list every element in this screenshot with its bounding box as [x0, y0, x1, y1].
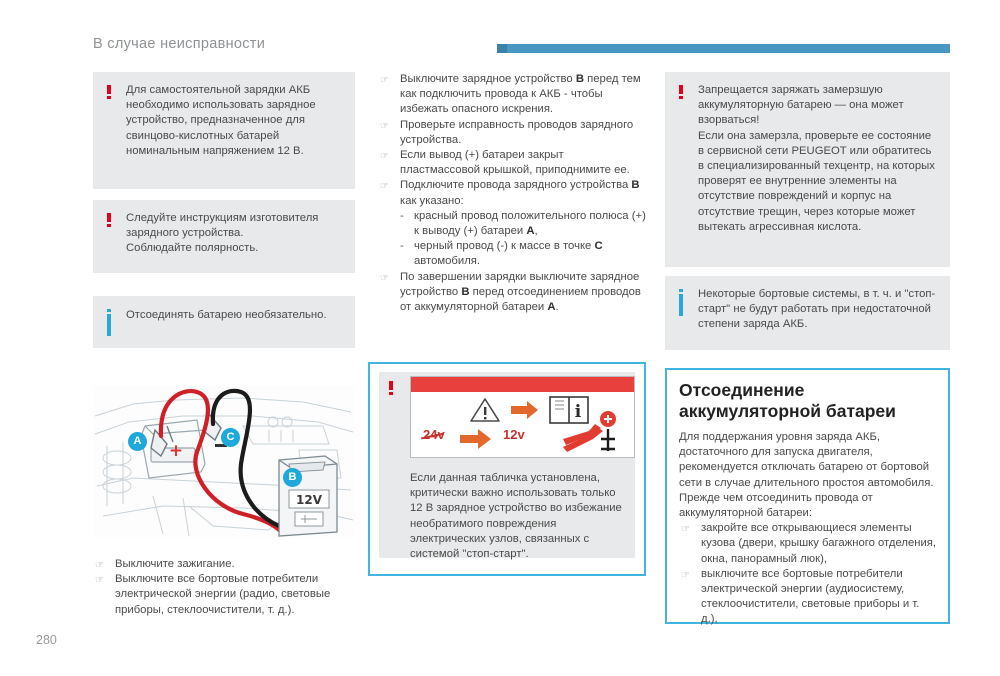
arrow-right-icon	[460, 429, 491, 449]
section-para-2: Прежде чем отсоединить провода от аккуму…	[679, 491, 938, 521]
exclamation-icon	[389, 381, 394, 395]
warning-text-polarity: Соблюдайте полярность.	[126, 241, 345, 256]
section-disconnect-battery: Отсоединение аккумуляторной батареи Для …	[665, 368, 950, 624]
list-item: ☞Проверьте исправность проводов зарядног…	[378, 118, 646, 148]
sub-list-item: -черный провод (-) к массе в точке C авт…	[378, 239, 646, 269]
list-item: ☞Подключите провода зарядного устройства…	[378, 178, 646, 208]
middle-bullet-list: ☞Выключите зарядное устройство B перед т…	[378, 72, 646, 315]
engine-bay-photo: + 12V A B C	[93, 386, 355, 538]
sticker-graphics: i	[411, 377, 634, 457]
sub-list-item: -красный провод положительного полюса (+…	[378, 209, 646, 239]
bullet-text: Выключите зарядное устройство B перед те…	[400, 73, 641, 115]
sticker-caption: Если данная табличка установлена, критич…	[410, 471, 628, 562]
voltage-new-label: 12v	[503, 427, 525, 442]
callout-tag-c: C	[221, 428, 240, 447]
warning-box-manufacturer-instructions: Следуйте инструкциям изготовителя зарядн…	[93, 200, 355, 273]
warning-text-frozen-2: Если она замерзла, проверьте ее состояни…	[698, 129, 940, 235]
hand-pointer-icon: ☞	[681, 522, 690, 537]
sticker-card: i 24v 12v Если данная табличка установле…	[368, 362, 646, 576]
list-item: ☞выключите все бортовые потребители элек…	[679, 567, 938, 628]
sub-bullet-text: черный провод (-) к массе в точке C авто…	[414, 240, 603, 267]
section-heading: Отсоединение аккумуляторной батареи	[679, 380, 938, 422]
info-icon	[679, 289, 688, 316]
sub-bullet-text: красный провод положительного полюса (+)…	[414, 210, 646, 237]
warning-box-frozen-battery: Запрещается заряжать замерзшую аккумулят…	[665, 72, 950, 267]
list-item: ☞закройте все открывающиеся элементы куз…	[679, 521, 938, 567]
header-accent-bar	[497, 44, 950, 53]
manual-page: В случае неисправности Для самостоятельн…	[0, 0, 1000, 676]
page-number: 280	[36, 633, 57, 647]
info-icon	[107, 309, 116, 336]
hand-pointer-icon: ☞	[380, 149, 389, 164]
open-book-info-icon: i	[550, 397, 588, 423]
list-item: ☞Выключите зарядное устройство B перед т…	[378, 72, 646, 118]
hand-pointer-icon: ☞	[95, 573, 104, 588]
bullet-text: Если вывод (+) батареи закрыт пластмассо…	[400, 149, 630, 176]
bullet-text: По завершении зарядки выключите зарядное…	[400, 271, 641, 313]
voltage-old-label: 24v	[423, 427, 445, 442]
warning-triangle-icon	[471, 399, 499, 421]
hand-pointer-icon: ☞	[380, 119, 389, 134]
warning-text-frozen-1: Запрещается заряжать замерзшую аккумулят…	[698, 83, 940, 129]
hand-pointer-icon: ☞	[95, 558, 104, 573]
list-item: ☞ Если вывод (+) батареи закрыт пластмас…	[378, 148, 646, 178]
engine-bay-illustration: + 12V	[93, 386, 355, 538]
info-box-no-disconnect: Отсоединять батарею необязательно.	[93, 296, 355, 348]
battery-plus-sign: +	[169, 441, 183, 461]
warning-box-charger-type: Для самостоятельной зарядки АКБ необходи…	[93, 72, 355, 189]
section-bullet-list: ☞закройте все открывающиеся элементы куз…	[679, 521, 938, 627]
list-item: ☞Выключите зажигание.	[93, 557, 355, 572]
callout-tag-b: B	[283, 468, 302, 487]
warning-text-instructions: Следуйте инструкциям изготовителя зарядн…	[126, 211, 345, 241]
warning-text-charger-type: Для самостоятельной зарядки АКБ необходи…	[126, 83, 345, 159]
svg-text:i: i	[575, 402, 582, 422]
exclamation-icon	[679, 85, 688, 99]
header-accent-cap	[497, 44, 507, 53]
bullet-text: Проверьте исправность проводов зарядного…	[400, 119, 633, 146]
hand-pointer-icon: ☞	[380, 271, 389, 286]
section-para-1: Для поддержания уровня заряда АКБ, доста…	[679, 430, 938, 491]
bullet-text: Подключите провода зарядного устройства …	[400, 179, 640, 206]
exclamation-icon	[107, 85, 116, 99]
hand-pointer-icon: ☞	[380, 179, 389, 194]
hand-pointer-icon: ☞	[380, 73, 389, 88]
list-item: ☞Выключите все бортовые потребители элек…	[93, 572, 355, 618]
page-title: В случае неисправности	[93, 36, 265, 52]
left-bullet-list: ☞Выключите зажигание. ☞Выключите все бор…	[93, 557, 355, 618]
hand-pointer-icon: ☞	[681, 568, 690, 583]
arrow-right-icon	[511, 401, 538, 419]
callout-tag-a: A	[128, 432, 147, 451]
charger-voltage-label: 12V	[296, 493, 323, 507]
list-item: ☞По завершении зарядки выключите зарядно…	[378, 270, 646, 316]
warning-sticker: i 24v 12v	[410, 376, 635, 458]
info-text-no-disconnect: Отсоединять батарею необязательно.	[126, 308, 345, 323]
info-text-stop-start: Некоторые бортовые системы, в т. ч. и "с…	[698, 287, 940, 333]
info-box-stop-start: Некоторые бортовые системы, в т. ч. и "с…	[665, 276, 950, 350]
exclamation-icon	[107, 213, 116, 227]
